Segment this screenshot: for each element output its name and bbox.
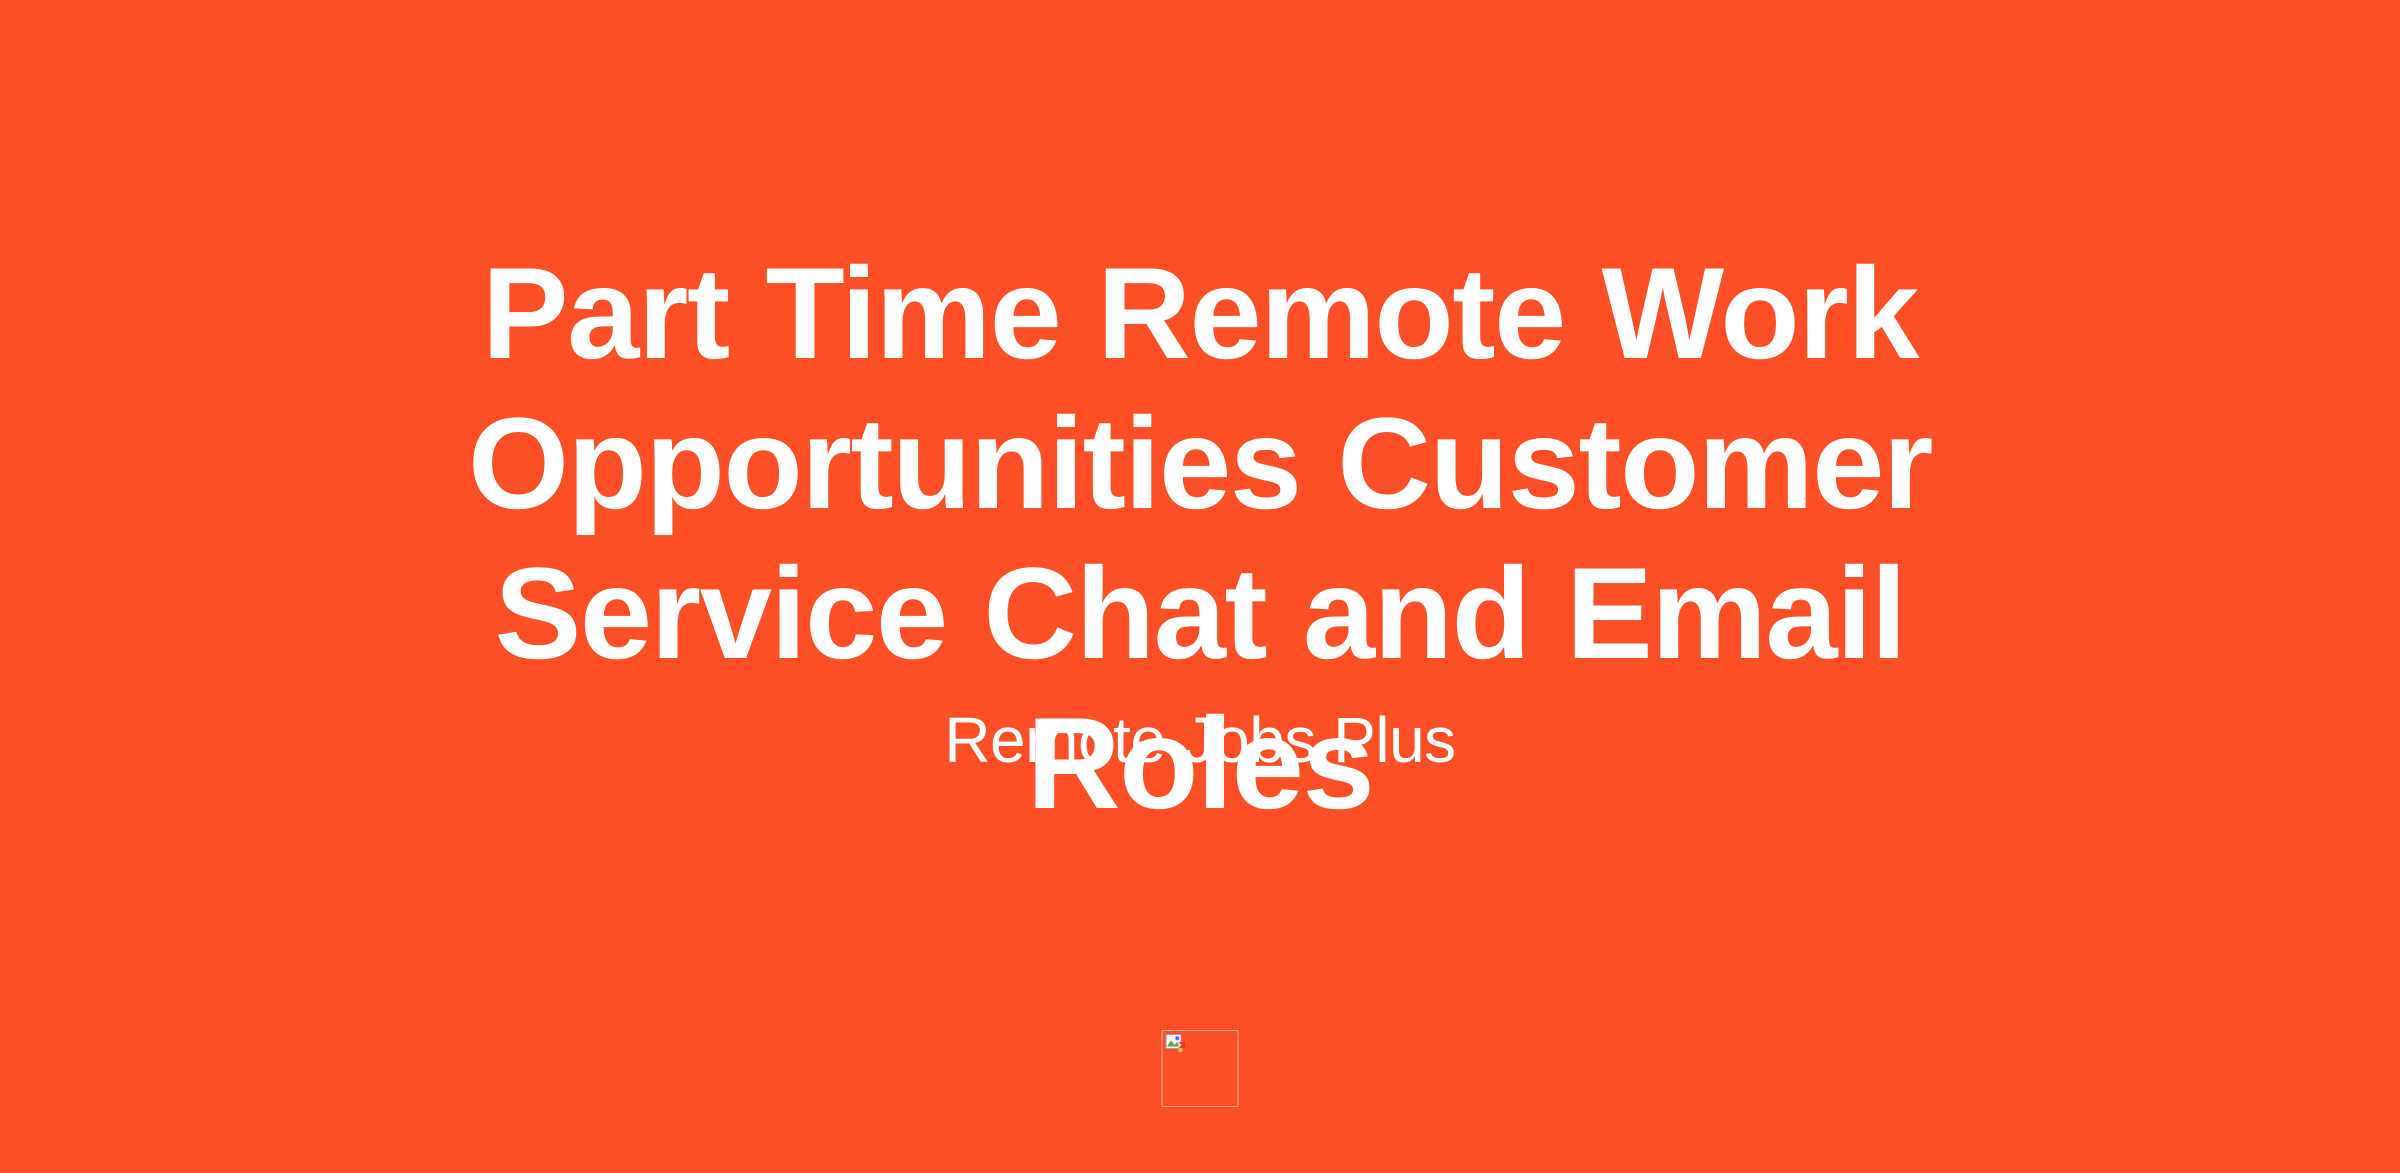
media-slot [1162, 1030, 1239, 1107]
broken-image-icon [1166, 1034, 1188, 1054]
page-subtitle: Remote Jobs Plus [300, 703, 2100, 777]
hero-slide: Part Time Remote Work Opportunities Cust… [0, 0, 2400, 1173]
broken-image-placeholder[interactable] [1162, 1030, 1239, 1107]
subtitle-block: Remote Jobs Plus [300, 703, 2100, 777]
